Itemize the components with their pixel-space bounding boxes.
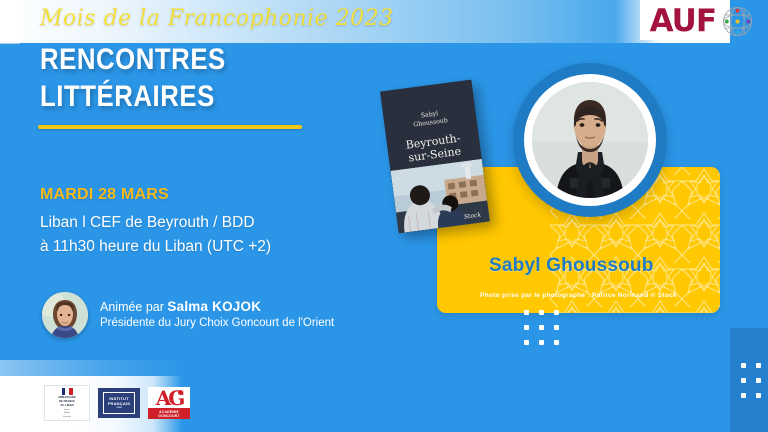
moderator-text: Animée par Salma KOJOK Présidente du Jur…: [100, 298, 334, 332]
moderator-name: Salma KOJOK: [167, 299, 261, 314]
logo-if-sub: LIBAN: [116, 407, 122, 409]
logo-ambassade-line3: AU LIBAN: [60, 404, 73, 407]
logo-ambassade-de-france[interactable]: AMBASSADE DE FRANCE AU LIBAN Liberté Éga…: [44, 385, 90, 421]
moderator-block: Animée par Salma KOJOK Présidente du Jur…: [42, 292, 334, 338]
event-info: MARDI 28 MARS Liban l CEF de Beyrouth / …: [40, 186, 400, 259]
avatar: [42, 292, 88, 338]
globe-network-icon: [721, 5, 754, 38]
logo-ambassade-line2: DE FRANCE: [59, 400, 75, 403]
book-cover-photo: [391, 159, 490, 233]
title-underline-rule: [38, 125, 302, 129]
book-cover: Sabyl Ghoussoub Beyrouth- sur-Seine: [380, 80, 490, 234]
speaker-portrait-photo: [532, 82, 648, 198]
moderator-role: Présidente du Jury Choix Goncourt de l'O…: [100, 316, 334, 332]
event-location: Liban l CEF de Beyrouth / BDD: [40, 211, 400, 235]
speaker-portrait-ring: [513, 63, 667, 217]
kicker-text: Mois de la Francophonie 2023: [40, 6, 394, 31]
event-time: à 11h30 heure du Liban (UTC +2): [40, 235, 400, 259]
photo-credit: Photo prise par le photographe : Patrice…: [437, 292, 720, 299]
auf-logo-text: AUF: [650, 6, 716, 37]
logo-ambassade-motto3: Fraternité: [63, 416, 71, 418]
logo-ambassade-motto1: Liberté: [64, 409, 70, 411]
logo-academie-goncourt[interactable]: AG ACADÉMIE GONCOURT: [148, 387, 190, 419]
goncourt-dot-icon: [178, 390, 183, 395]
poster-canvas: AUF Mois de la Francophonie 2023 RENCONT…: [0, 0, 768, 432]
dot-grid-right: [741, 363, 761, 398]
logo-ambassade-motto2: Égalité: [64, 412, 70, 414]
auf-logo[interactable]: AUF: [650, 3, 754, 39]
page-title-line1: RENCONTRES: [40, 42, 401, 79]
logo-if-line2: FRANÇAIS: [108, 402, 130, 406]
partner-logos: AMBASSADE DE FRANCE AU LIBAN Liberté Éga…: [44, 385, 190, 421]
speaker-name: Sabyl Ghoussoub: [489, 255, 654, 277]
top-left-fade: [0, 0, 20, 44]
page-title-line2: LITTÉRAIRES: [40, 79, 401, 116]
event-date: MARDI 28 MARS: [40, 186, 400, 204]
dot-grid-left: [524, 310, 559, 345]
logo-ag-caption: ACADÉMIE GONCOURT: [148, 408, 190, 419]
french-flag-icon: [62, 388, 73, 395]
logo-institut-francais[interactable]: INSTITUT FRANÇAIS LIBAN: [98, 388, 140, 418]
logo-ambassade-line1: AMBASSADE: [58, 396, 76, 399]
speaker-portrait-inner-ring: [524, 74, 656, 206]
moderator-prefix: Animée par: [100, 300, 164, 314]
